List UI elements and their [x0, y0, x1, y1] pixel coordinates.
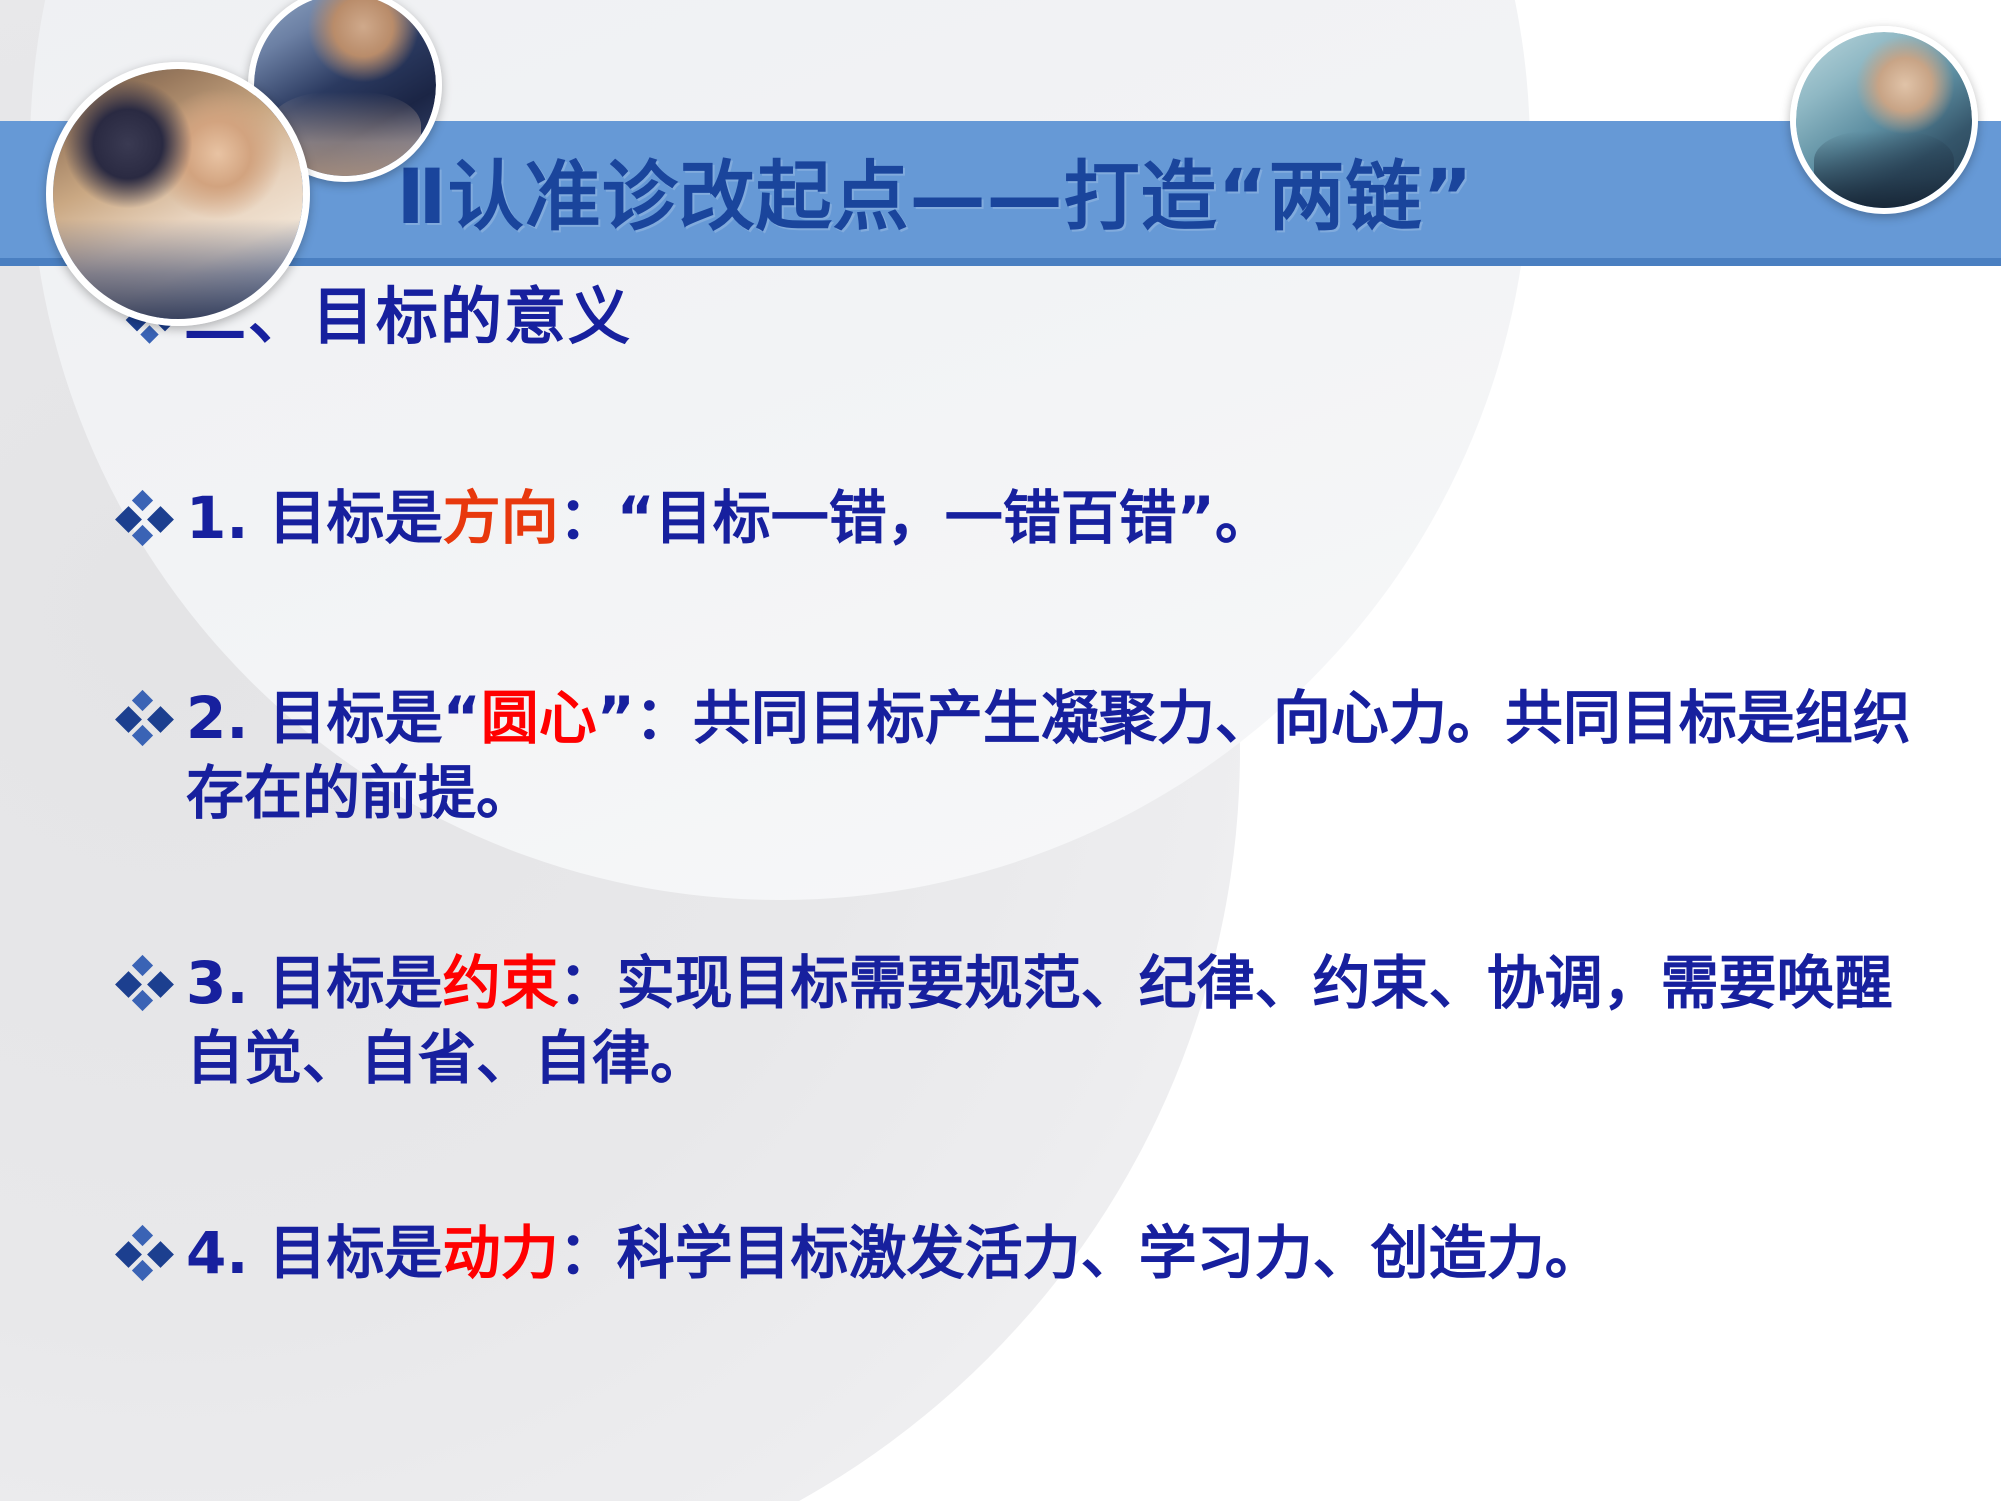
diamond-bullet-icon	[118, 691, 172, 749]
list-item: 3. 目标是约束：实现目标需要规范、纪律、约束、协调，需要唤醒自觉、自省、自律。	[118, 946, 1948, 1097]
diamond-bullet-icon	[118, 491, 172, 549]
diamond-bullet-icon	[118, 956, 172, 1014]
list-item-rest: ：科学目标激发活力、学习力、创造力。	[559, 1219, 1603, 1287]
photo-bubble-office-desk-icon	[1790, 26, 1978, 214]
list-item-highlight: 约束	[443, 949, 559, 1017]
list-item-text: 4. 目标是动力：科学目标激发活力、学习力、创造力。	[186, 1216, 1603, 1291]
list-item: 1. 目标是方向：“目标一错，一错百错”。	[118, 481, 1948, 556]
list-item-highlight: 方向	[443, 484, 559, 552]
list-item-rest: ：“目标一错，一错百错”。	[559, 484, 1273, 552]
list-item-lead: 2. 目标是“	[186, 684, 481, 752]
diamond-bullet-icon	[118, 1226, 172, 1284]
photo-bubble-team-laptop-icon	[46, 62, 310, 326]
list-item-text: 2. 目标是“圆心”：共同目标产生凝聚力、向心力。共同目标是组织存在的前提。	[186, 681, 1948, 832]
list-item: 2. 目标是“圆心”：共同目标产生凝聚力、向心力。共同目标是组织存在的前提。	[118, 681, 1948, 832]
photo-bubble-office-desk-image	[1796, 32, 1972, 208]
list-item-highlight: 动力	[443, 1219, 559, 1287]
presentation-slide: Ⅱ认准诊改起点——打造“两链” 二、目标的意义 1. 目标是方向：“目标一错，一…	[0, 0, 2001, 1501]
list-item-lead: 3. 目标是	[186, 949, 443, 1017]
list-item-text: 3. 目标是约束：实现目标需要规范、纪律、约束、协调，需要唤醒自觉、自省、自律。	[186, 946, 1948, 1097]
photo-bubble-team-laptop-image	[53, 69, 303, 319]
slide-body: 二、目标的意义 1. 目标是方向：“目标一错，一错百错”。 2. 目标是“圆心”…	[0, 266, 2001, 1501]
list-item-lead: 4. 目标是	[186, 1219, 443, 1287]
list-item-highlight: 圆心	[481, 684, 597, 752]
list-item-lead: 1. 目标是	[186, 484, 443, 552]
list-item: 4. 目标是动力：科学目标激发活力、学习力、创造力。	[118, 1216, 1948, 1291]
list-item-text: 1. 目标是方向：“目标一错，一错百错”。	[186, 481, 1273, 556]
